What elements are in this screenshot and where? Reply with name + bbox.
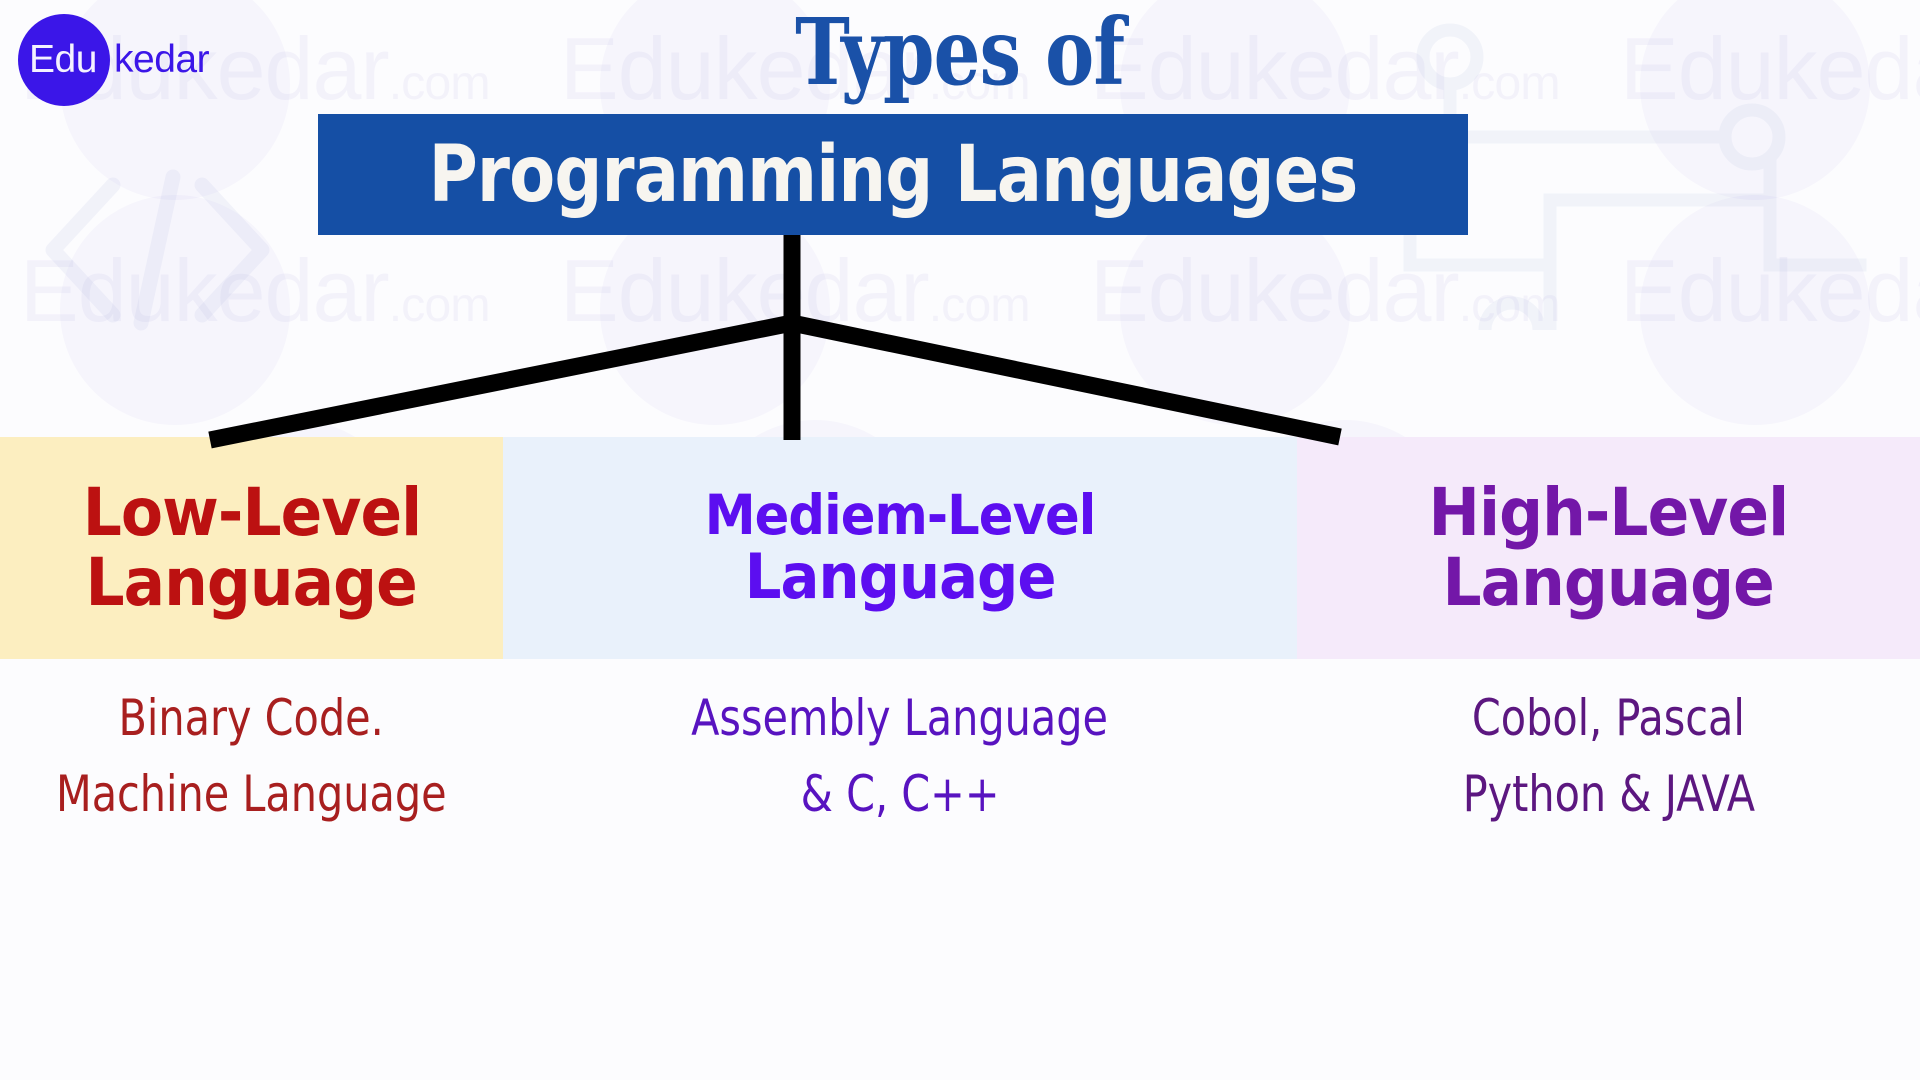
title-programming-languages: Programming Languages	[429, 136, 1358, 214]
heading-high-level-line1: High-Level	[1429, 478, 1789, 548]
heading-medium-level-line1: Mediem-Level	[705, 486, 1096, 544]
logo-circle: Edu	[18, 14, 110, 106]
heading-high-level-line2: Language	[1443, 548, 1774, 618]
column-headings-row: Low-Level Language Mediem-Level Language…	[0, 437, 1920, 659]
connector-branch-right	[787, 322, 1340, 437]
logo-kedar-text: kedar	[114, 38, 209, 82]
column-bodies-row: Binary Code. Machine Language Assembly L…	[0, 680, 1920, 832]
heading-high-level: High-Level Language	[1297, 437, 1920, 659]
infographic-canvas: Edukedar.com Edukedar.com Edukedar.com E…	[0, 0, 1920, 1080]
body-high-level: Cobol, Pascal Python & JAVA	[1297, 680, 1920, 832]
heading-medium-level-line2: Language	[745, 544, 1056, 610]
title-types-of: Types of	[795, 4, 1124, 102]
title-banner: Programming Languages	[318, 114, 1468, 235]
logo-edu-text: Edu	[29, 38, 97, 82]
body-low-level-line2: Machine Language	[56, 756, 447, 832]
page-title-line1: Types of	[0, 4, 1920, 102]
heading-low-level-line1: Low-Level	[82, 478, 421, 548]
body-medium-level-line1: Assembly Language	[692, 680, 1109, 756]
body-low-level-line1: Binary Code.	[119, 680, 384, 756]
connector-branch-left	[210, 322, 797, 440]
body-high-level-line1: Cobol, Pascal	[1472, 680, 1745, 756]
body-low-level: Binary Code. Machine Language	[0, 680, 503, 832]
body-high-level-line2: Python & JAVA	[1462, 756, 1754, 832]
body-medium-level: Assembly Language & C, C++	[503, 680, 1297, 832]
brand-logo[interactable]: Edu kedar	[18, 14, 209, 106]
heading-medium-level: Mediem-Level Language	[503, 437, 1297, 659]
body-medium-level-line2: & C, C++	[801, 756, 1000, 832]
heading-low-level-line2: Language	[86, 548, 417, 618]
heading-low-level: Low-Level Language	[0, 437, 503, 659]
